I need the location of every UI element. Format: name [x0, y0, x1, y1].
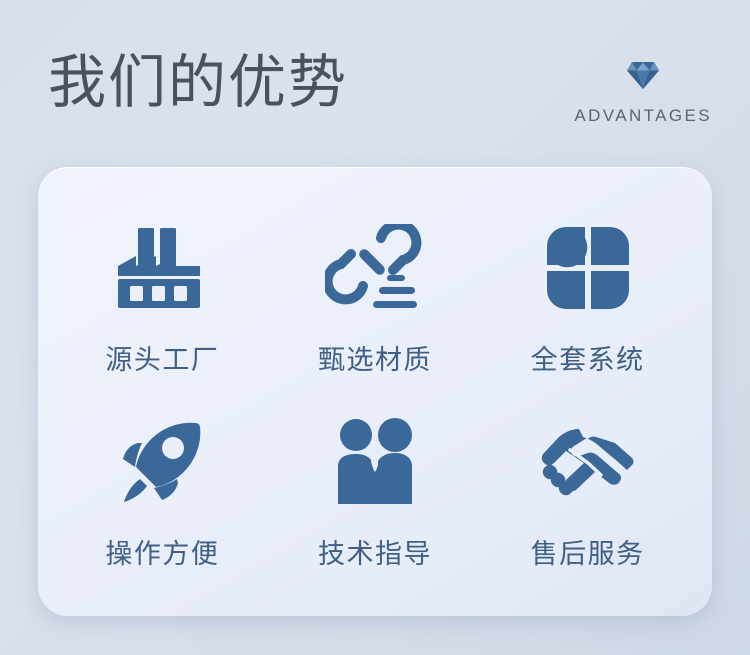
advantage-item-guidance[interactable]: 技术指导	[269, 396, 482, 591]
advantage-label: 源头工厂	[105, 338, 219, 377]
diamond-icon	[626, 60, 660, 90]
advantage-label: 操作方便	[105, 532, 219, 571]
advantage-item-materials[interactable]: 甄选材质	[269, 201, 482, 396]
advantage-item-factory[interactable]: 源头工厂	[56, 201, 269, 396]
handshake-icon	[538, 414, 638, 510]
rocket-icon	[112, 414, 212, 510]
advantages-subtitle: ADVANTAGES	[574, 106, 712, 126]
page-header: 我们的优势 ADVANTAGES	[0, 0, 750, 160]
two-people-icon	[325, 414, 425, 510]
advantage-label: 甄选材质	[318, 338, 432, 377]
advantage-item-system[interactable]: 全套系统	[481, 201, 694, 396]
four-petal-icon	[538, 220, 638, 316]
page-title: 我们的优势	[48, 52, 348, 115]
advantage-item-easy-operation[interactable]: 操作方便	[56, 396, 269, 591]
advantage-label: 技术指导	[318, 532, 432, 571]
advantage-label: 全套系统	[531, 338, 645, 377]
advantages-card: 源头工厂 甄选材质	[38, 167, 712, 616]
factory-icon	[112, 220, 212, 316]
advantage-item-after-sales[interactable]: 售后服务	[481, 396, 694, 591]
chain-link-icon	[325, 220, 425, 316]
advantage-label: 售后服务	[531, 532, 645, 571]
advantages-grid: 源头工厂 甄选材质	[38, 167, 712, 616]
advantages-badge: ADVANTAGES	[574, 60, 712, 126]
